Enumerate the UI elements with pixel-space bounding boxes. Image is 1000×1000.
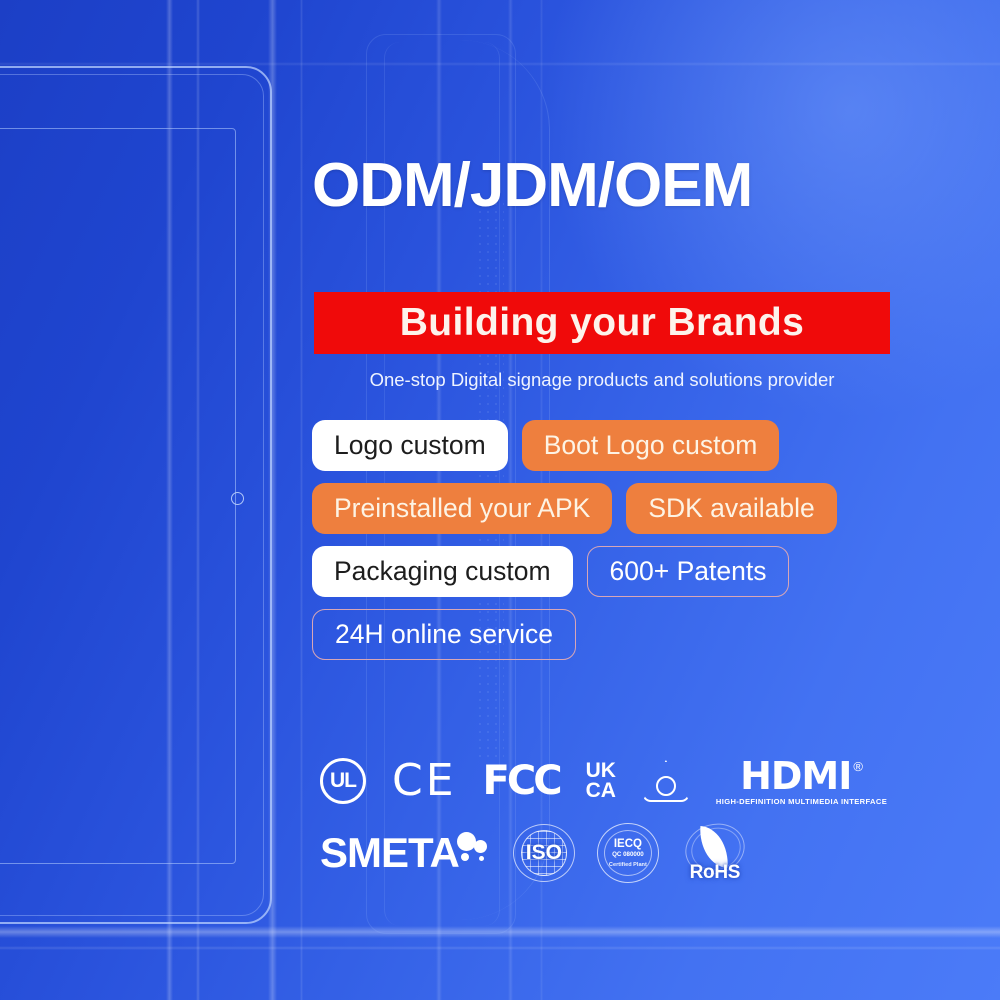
highlight-banner-text: Building your Brands [400, 301, 805, 345]
certification-badges: UL CE FCC UK CA [320, 752, 900, 886]
ukca-certification-icon: UK CA [586, 761, 616, 800]
light-streak [300, 0, 303, 1000]
smeta-wordmark: SMETA [320, 832, 459, 874]
highlight-banner: Building your Brands [314, 292, 890, 354]
tablet-wireframe-body [0, 66, 272, 924]
ul-certification-icon: UL [320, 758, 366, 804]
light-streak [268, 0, 277, 1000]
smeta-certification-icon: SMETA [320, 832, 491, 874]
iso-certification-icon: ISO [513, 824, 575, 882]
feature-pill-packaging-custom[interactable]: Packaging custom [312, 546, 573, 597]
tablet-wireframe-screen [0, 128, 236, 864]
rcm-certification-icon [642, 760, 690, 802]
feature-pill-logo-custom[interactable]: Logo custom [312, 420, 508, 471]
iecq-line-1: IECQ [614, 838, 642, 851]
hdmi-wordmark: HDMI [740, 757, 851, 795]
hdmi-certification-icon: HDMI ® HIGH-DEFINITION MULTIMEDIA INTERF… [716, 757, 887, 806]
feature-pill-row: Logo custom Boot Logo custom [312, 420, 912, 471]
page-title: ODM/JDM/OEM [312, 150, 752, 221]
feature-pill-patents[interactable]: 600+ Patents [587, 546, 790, 597]
iecq-certification-icon: IECQ QC 080000 Certified Plant [597, 823, 659, 883]
feature-pill-online-service[interactable]: 24H online service [312, 609, 576, 660]
smeta-dots-icon [457, 832, 491, 872]
feature-pill-sdk-available[interactable]: SDK available [626, 483, 836, 534]
content-column: ODM/JDM/OEM Building your Brands One-sto… [312, 0, 912, 1000]
feature-pill-row: Preinstalled your APK SDK available [312, 483, 912, 534]
feature-pill-list: Logo custom Boot Logo custom Preinstalle… [312, 420, 912, 672]
hdmi-subtitle: HIGH-DEFINITION MULTIMEDIA INTERFACE [716, 797, 887, 806]
iso-wordmark: ISO [526, 841, 562, 865]
iecq-line-3: Certified Plant [609, 862, 647, 868]
light-streak [166, 0, 173, 1000]
tablet-wireframe-bezel [0, 74, 264, 916]
iecq-line-2: QC 080000 [612, 851, 644, 858]
rohs-certification-icon: RoHS [681, 822, 749, 884]
subtitle: One-stop Digital signage products and so… [312, 369, 892, 391]
feature-pill-row: 24H online service [312, 609, 912, 660]
light-streak [196, 0, 200, 1000]
feature-pill-boot-logo-custom[interactable]: Boot Logo custom [522, 420, 780, 471]
feature-pill-preinstalled-apk[interactable]: Preinstalled your APK [312, 483, 612, 534]
ukca-line-2: CA [586, 781, 616, 801]
hdmi-registered-mark: ® [853, 759, 863, 774]
feature-pill-row: Packaging custom 600+ Patents [312, 546, 912, 597]
ce-certification-icon: CE [392, 759, 457, 803]
fcc-certification-icon: FCC [483, 761, 560, 801]
camera-dot-icon [231, 492, 244, 505]
promo-banner: ODM/JDM/OEM Building your Brands One-sto… [0, 0, 1000, 1000]
certification-row-primary: UL CE FCC UK CA [320, 752, 900, 810]
certification-row-secondary: SMETA ISO IECQ [320, 820, 900, 886]
rohs-wordmark: RoHS [690, 862, 741, 884]
